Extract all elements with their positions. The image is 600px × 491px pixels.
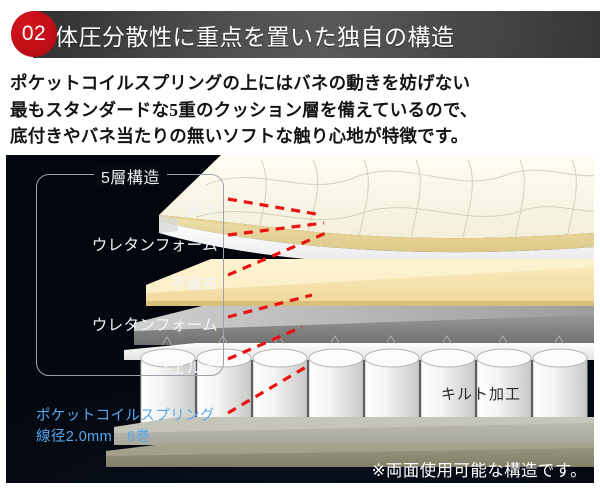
five-layer-box-title: 5層構造 [94,164,167,188]
structure-diagram-panel: 5層構造 表地 ウレタンフォーム 不織布 ウレタンフォーム フェルト ポケットコ… [6,155,594,483]
page-root: 体圧分散性に重点を置いた独自の構造 02 ポケットコイルスプリングの上にはバネの… [0,0,600,491]
section-number-label: 02 [11,11,57,57]
spring-caption-line-2: 線径2.0mm 6巻 [36,427,215,448]
layer-label-felt: フェルト [154,356,218,378]
layer-label-fabric-top: 表地 [186,198,218,220]
lead-line-3: 底付きやバネ当たりの無いソフトな触り心地が特徴です。 [10,123,590,150]
spring-caption-line-1: ポケットコイルスプリング [36,406,215,427]
page-title: 体圧分散性に重点を置いた独自の構造 [55,18,455,52]
lead-line-2: 最もスタンダードな5重のクッション層を備えているので、 [10,97,590,124]
layer-label-non-woven: 不織布 [170,272,218,294]
lead-paragraph: ポケットコイルスプリングの上にはバネの動きを妨げない 最もスタンダードな5重のク… [10,70,590,150]
lead-line-1: ポケットコイルスプリングの上にはバネの動きを妨げない [10,70,590,97]
layer-label-urethane-foam-2: ウレタンフォーム [92,313,218,335]
both-sides-usable-note: ※両面使用可能な構造です。 [372,457,587,481]
layer-label-urethane-foam-1: ウレタンフォーム [92,233,218,255]
quilt-processing-label: キルト加工 [441,383,521,404]
section-number-badge: 02 [11,11,57,57]
pocket-coil-spring-caption: ポケットコイルスプリング 線径2.0mm 6巻 [36,406,215,448]
